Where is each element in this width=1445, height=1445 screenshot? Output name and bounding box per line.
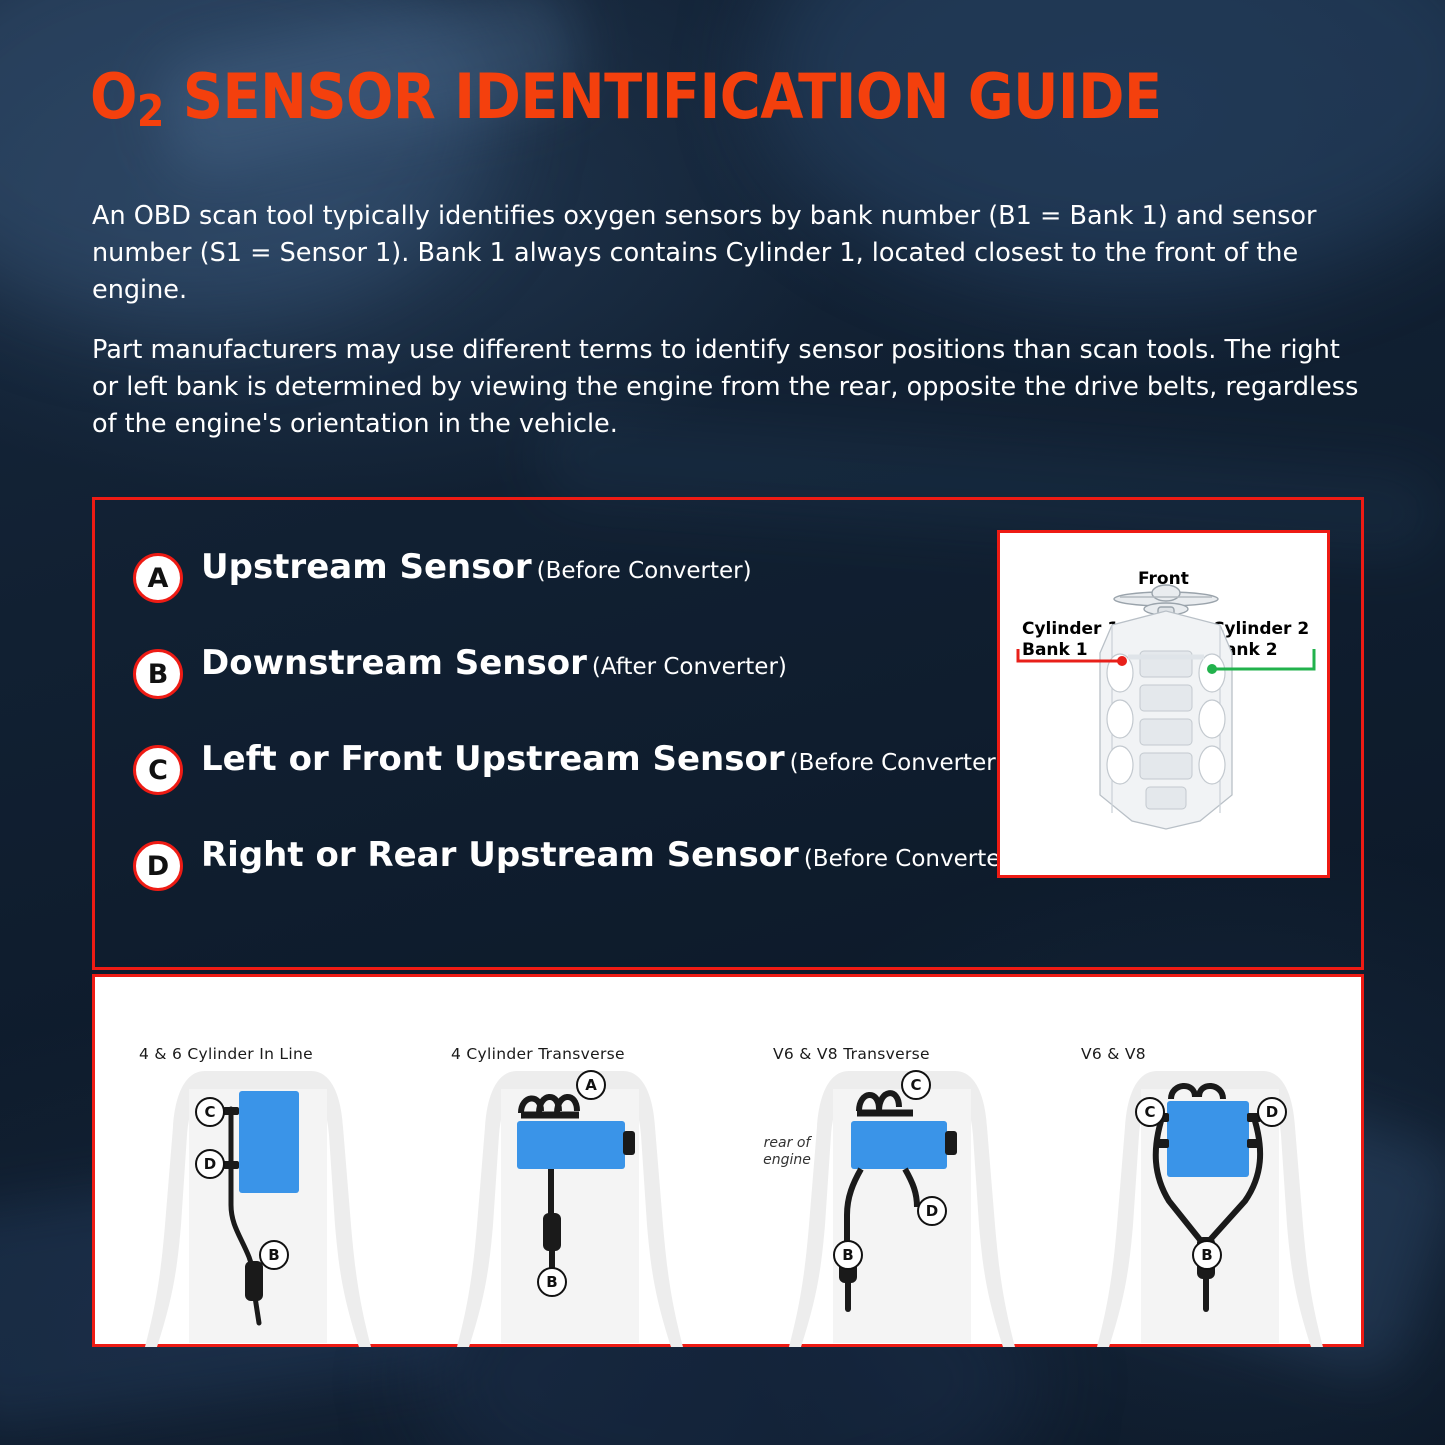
page-title: O2 SENSOR IDENTIFICATION GUIDE bbox=[90, 62, 1162, 139]
engine-block-illustration bbox=[1000, 533, 1330, 878]
diagram-art-inline bbox=[113, 1065, 431, 1365]
legend-note-b: (After Converter) bbox=[592, 654, 787, 680]
legend-row-c: C Left or Front Upstream Sensor (Before … bbox=[133, 736, 1005, 786]
diagram-cell-v-longitudinal: V6 & V8 bbox=[1049, 977, 1367, 1350]
legend-badge-b: B bbox=[133, 649, 183, 699]
legend-badge-d: D bbox=[133, 841, 183, 891]
vehicle-layout-panel: 4 & 6 Cylinder In Line C bbox=[92, 974, 1364, 1347]
diagram-rear-of-engine-label: rear ofengine bbox=[741, 1135, 833, 1169]
legend-note-d: (Before Converter) bbox=[804, 846, 1019, 872]
diagram-badge-vl-b: B bbox=[1192, 1240, 1222, 1270]
legend-label-b: Downstream Sensor bbox=[201, 643, 587, 683]
legend-note-a: (Before Converter) bbox=[537, 558, 752, 584]
diagram-cell-v-transverse: V6 & V8 Transverse C bbox=[737, 977, 1055, 1350]
diagram-title-v-longitudinal: V6 & V8 bbox=[1081, 1045, 1146, 1063]
diagram-badge-inline-c: C bbox=[195, 1097, 225, 1127]
legend-row-d: D Right or Rear Upstream Sensor (Before … bbox=[133, 832, 1019, 882]
diagram-art-4cyl-transverse bbox=[425, 1065, 743, 1365]
title-rest: SENSOR IDENTIFICATION GUIDE bbox=[164, 60, 1162, 133]
legend-label-c: Left or Front Upstream Sensor bbox=[201, 739, 785, 779]
legend-row-b: B Downstream Sensor (After Converter) bbox=[133, 640, 787, 690]
diagram-badge-inline-b: B bbox=[259, 1240, 289, 1270]
diagram-title-inline: 4 & 6 Cylinder In Line bbox=[139, 1045, 313, 1063]
title-subscript-2: 2 bbox=[137, 86, 164, 137]
diagram-badge-vl-d: D bbox=[1257, 1097, 1287, 1127]
diagram-cell-4cyl-transverse: 4 Cylinder Transverse bbox=[425, 977, 743, 1350]
intro-paragraph-1: An OBD scan tool typically identifies ox… bbox=[92, 198, 1360, 309]
diagram-badge-vt-b: B bbox=[833, 1240, 863, 1270]
title-o: O bbox=[90, 60, 137, 133]
legend-label-a: Upstream Sensor bbox=[201, 547, 532, 587]
legend-badge-c: C bbox=[133, 745, 183, 795]
engine-bank-diagram-card: Front Cylinder 1 Bank 1 Cylinder 2 Bank … bbox=[997, 530, 1330, 878]
legend-row-a: A Upstream Sensor (Before Converter) bbox=[133, 544, 752, 594]
diagram-title-4cyl-transverse: 4 Cylinder Transverse bbox=[451, 1045, 625, 1063]
diagram-badge-vt-c: C bbox=[901, 1070, 931, 1100]
legend-note-c: (Before Converter) bbox=[790, 750, 1005, 776]
poster-root: O2 SENSOR IDENTIFICATION GUIDE An OBD sc… bbox=[0, 0, 1445, 1445]
diagram-badge-vt-d: D bbox=[917, 1196, 947, 1226]
intro-paragraph-2: Part manufacturers may use different ter… bbox=[92, 332, 1360, 443]
diagram-badge-vl-c: C bbox=[1135, 1097, 1165, 1127]
legend-badge-a: A bbox=[133, 553, 183, 603]
diagram-cell-inline: 4 & 6 Cylinder In Line C bbox=[113, 977, 431, 1350]
diagram-art-v-longitudinal bbox=[1049, 1065, 1367, 1365]
legend-label-d: Right or Rear Upstream Sensor bbox=[201, 835, 799, 875]
diagram-art-v-transverse bbox=[737, 1065, 1055, 1365]
diagram-badge-4cyl-a: A bbox=[576, 1070, 606, 1100]
diagram-badge-inline-d: D bbox=[195, 1149, 225, 1179]
diagram-title-v-transverse: V6 & V8 Transverse bbox=[773, 1045, 930, 1063]
diagram-badge-4cyl-b: B bbox=[537, 1267, 567, 1297]
